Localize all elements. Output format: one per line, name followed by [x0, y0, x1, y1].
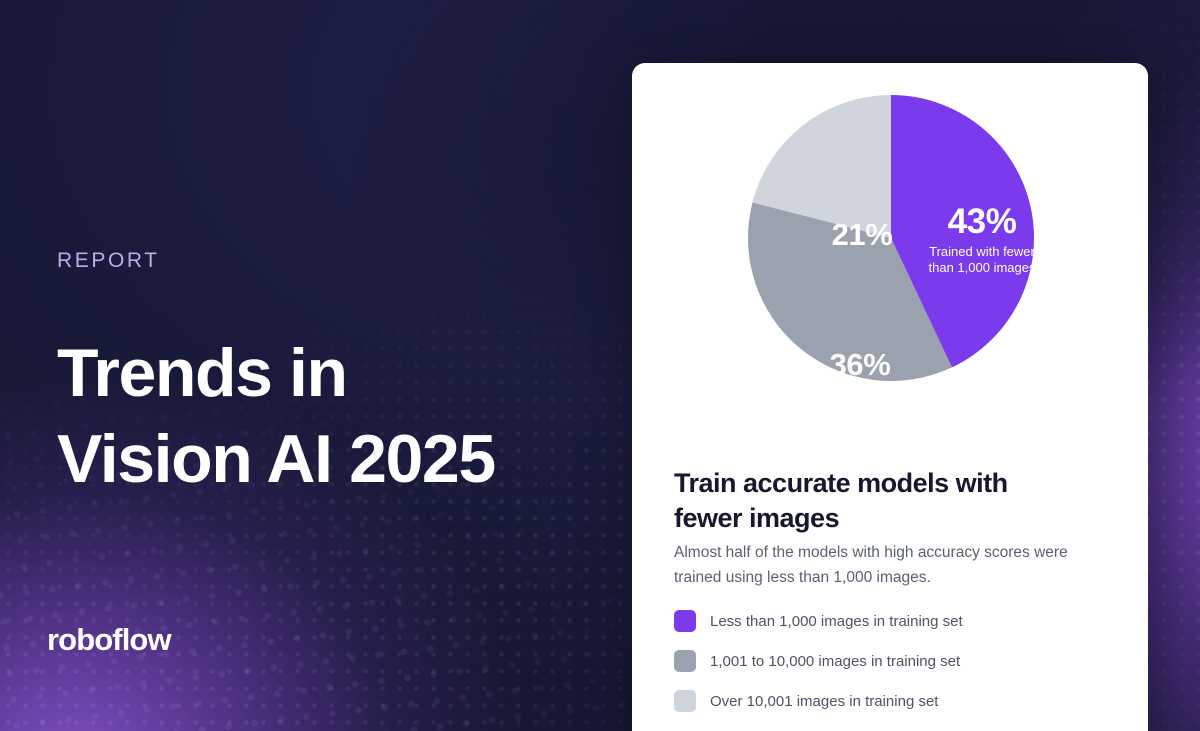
legend-item[interactable]: 1,001 to 10,000 images in training set	[674, 641, 1114, 681]
legend-label: Over 10,001 images in training set	[710, 694, 938, 709]
legend-swatch-1	[674, 610, 696, 632]
chart-legend: Less than 1,000 images in training set1,…	[674, 601, 1114, 721]
roboflow-logo: roboflow	[47, 622, 171, 658]
stat-card: 43% Trained with fewer than 1,000 images…	[632, 63, 1148, 731]
legend-label: Less than 1,000 images in training set	[710, 614, 963, 629]
headline-line-1: Trends in	[57, 330, 597, 416]
legend-swatch-3	[674, 690, 696, 712]
legend-swatch-2	[674, 650, 696, 672]
card-title-line-2: fewer images	[674, 503, 839, 533]
headline-line-2: Vision AI 2025	[57, 416, 597, 502]
eyebrow-label: REPORT	[57, 249, 160, 273]
legend-item[interactable]: Less than 1,000 images in training set	[674, 601, 1114, 641]
legend-label: 1,001 to 10,000 images in training set	[710, 654, 960, 669]
card-title-line-1: Train accurate models with	[674, 468, 1008, 498]
card-title: Train accurate models with fewer images	[674, 466, 1074, 536]
card-description: Almost half of the models with high accu…	[674, 540, 1114, 590]
pie-chart-svg	[748, 95, 1034, 381]
legend-item[interactable]: Over 10,001 images in training set	[674, 681, 1114, 721]
report-cover: REPORT Trends in Vision AI 2025 roboflow…	[0, 0, 1200, 731]
pie-chart: 43% Trained with fewer than 1,000 images…	[632, 63, 1148, 423]
pie-chart-canvas	[748, 95, 1034, 381]
page-title: Trends in Vision AI 2025	[57, 330, 597, 502]
